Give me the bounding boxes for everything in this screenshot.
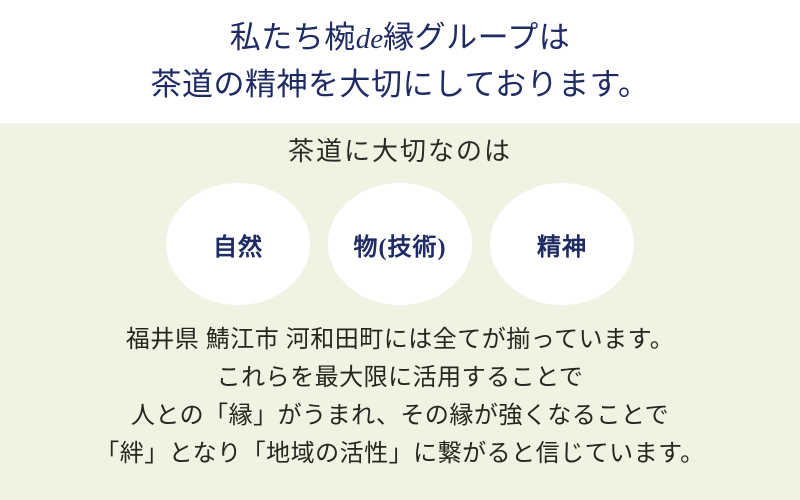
- circle-label-spirit: 精神: [537, 227, 587, 262]
- panel-heading: 茶道に大切なのは: [0, 135, 800, 169]
- body-copy: 福井県 鯖江市 河和田町には全てが揃っています。 これらを最大限に活用することで…: [0, 321, 800, 473]
- hero-title-line-1: 私たち椀de縁グループは: [230, 15, 571, 62]
- hero-title-line-1-latin: de: [356, 23, 383, 55]
- circle-item-spirit: 精神: [490, 183, 634, 305]
- hero-title-line-1-prefix: 私たち椀: [230, 20, 356, 55]
- circle-item-nature: 自然: [166, 183, 310, 305]
- body-line-2: これらを最大限に活用することで: [0, 359, 800, 397]
- body-line-1: 福井県 鯖江市 河和田町には全てが揃っています。: [0, 321, 800, 359]
- hero-title-line-2: 茶道の精神を大切にしております。: [150, 62, 649, 108]
- circle-item-technique: 物(技術): [328, 183, 472, 305]
- circle-label-technique: 物(技術): [354, 227, 447, 262]
- circle-group: 自然 物(技術) 精神: [0, 183, 800, 305]
- content-panel: 茶道に大切なのは 自然 物(技術) 精神 福井県 鯖江市 河和田町には全てが揃っ…: [0, 123, 800, 500]
- page-root: 私たち椀de縁グループは 茶道の精神を大切にしております。 茶道に大切なのは 自…: [0, 0, 800, 500]
- hero-banner: 私たち椀de縁グループは 茶道の精神を大切にしております。: [0, 0, 800, 123]
- circle-label-nature: 自然: [213, 227, 263, 262]
- hero-title-line-1-suffix: 縁グループは: [383, 20, 570, 55]
- body-line-4: 「絆」となり「地域の活性」に繋がると信じています。: [0, 435, 800, 473]
- body-line-3: 人との「縁」がうまれ、その縁が強くなることで: [0, 397, 800, 435]
